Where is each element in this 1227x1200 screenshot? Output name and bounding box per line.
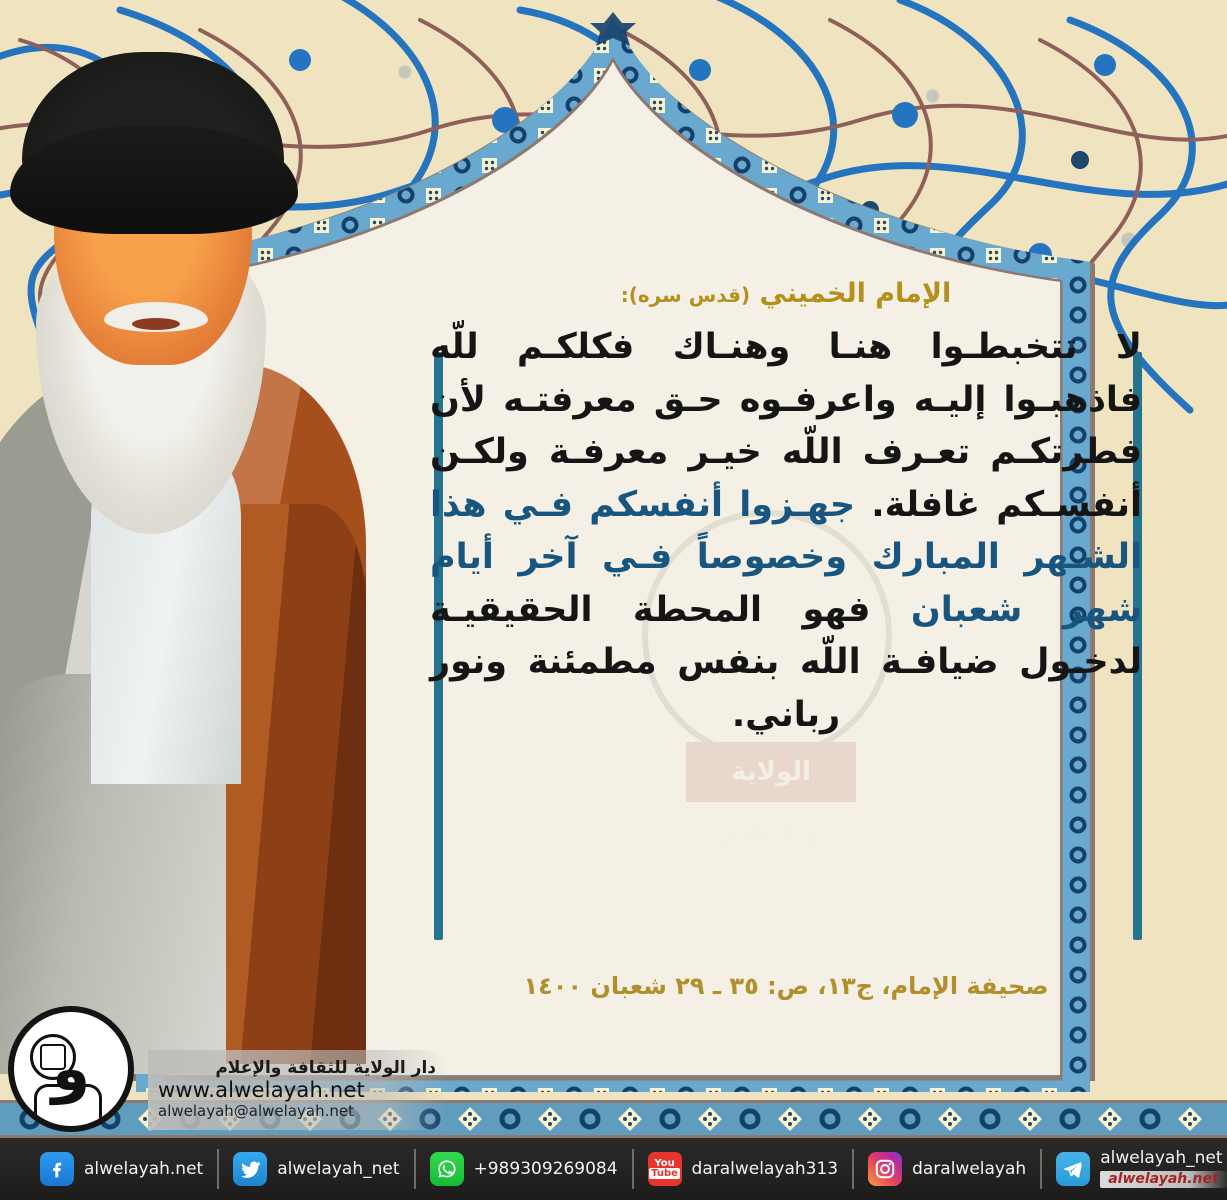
social-label-whatsapp: +989309269084 <box>474 1159 618 1179</box>
speaker-line: الإمام الخميني (قدس سره): <box>430 278 1142 309</box>
speaker-honorific: (قدس سره): <box>621 283 750 307</box>
social-bar: alwelayah.net alwelayah_net +98930926908… <box>0 1138 1227 1200</box>
instagram-icon <box>868 1152 902 1186</box>
quote-block: الإمام الخميني (قدس سره): لا تتخبطـوا هن… <box>430 278 1142 741</box>
social-label-telegram: alwelayah_net <box>1100 1150 1227 1168</box>
social-item-facebook[interactable]: alwelayah.net <box>26 1149 219 1189</box>
quote-text: لا تتخبطـوا هنـا وهنـاك فكلكـم للّه فاذه… <box>430 321 1142 741</box>
social-label-instagram: daralwelayah <box>912 1159 1026 1179</box>
social-label-youtube: daralwelayah313 <box>692 1159 839 1179</box>
social-item-youtube[interactable]: You Tube daralwelayah313 <box>634 1149 855 1189</box>
social-item-telegram[interactable]: alwelayah_net alwelayah.net <box>1042 1149 1227 1189</box>
twitter-icon <box>233 1152 267 1186</box>
organization-logo[interactable]: و <box>8 1006 134 1132</box>
social-label-twitter: alwelayah_net <box>277 1159 399 1179</box>
organization-arabic-name: دار الولاية للثقافة والإعلام <box>158 1058 436 1078</box>
source-citation: صحيفة الإمام، ج١٣، ص: ٣٥ ـ ٢٩ شعبان ١٤٠٠ <box>430 972 1142 1000</box>
organization-website[interactable]: www.alwelayah.net <box>158 1078 436 1102</box>
youtube-icon: You Tube <box>648 1152 682 1186</box>
social-item-twitter[interactable]: alwelayah_net <box>219 1149 415 1189</box>
social-item-whatsapp[interactable]: +989309269084 <box>416 1149 634 1189</box>
social-item-instagram[interactable]: daralwelayah <box>854 1149 1042 1189</box>
facebook-icon <box>40 1152 74 1186</box>
organization-email[interactable]: alwelayah@alwelayah.net <box>158 1102 436 1120</box>
logo-seal-icon <box>30 1034 76 1080</box>
social-label-facebook: alwelayah.net <box>84 1159 203 1179</box>
youtube-icon-bottom: Tube <box>649 1168 680 1179</box>
imam-khomeini-portrait <box>0 34 416 1044</box>
poster-canvas: الولاية والإعلام الإمام الخميني (قدس سره… <box>0 0 1227 1200</box>
telegram-watermark-stamp: alwelayah.net <box>1100 1171 1227 1189</box>
organization-block: دار الولاية للثقافة والإعلام www.alwelay… <box>148 1050 448 1130</box>
telegram-icon <box>1056 1152 1090 1186</box>
whatsapp-icon <box>430 1152 464 1186</box>
logo-arch-icon <box>34 1084 102 1126</box>
speaker-name: الإمام الخميني <box>760 278 952 309</box>
